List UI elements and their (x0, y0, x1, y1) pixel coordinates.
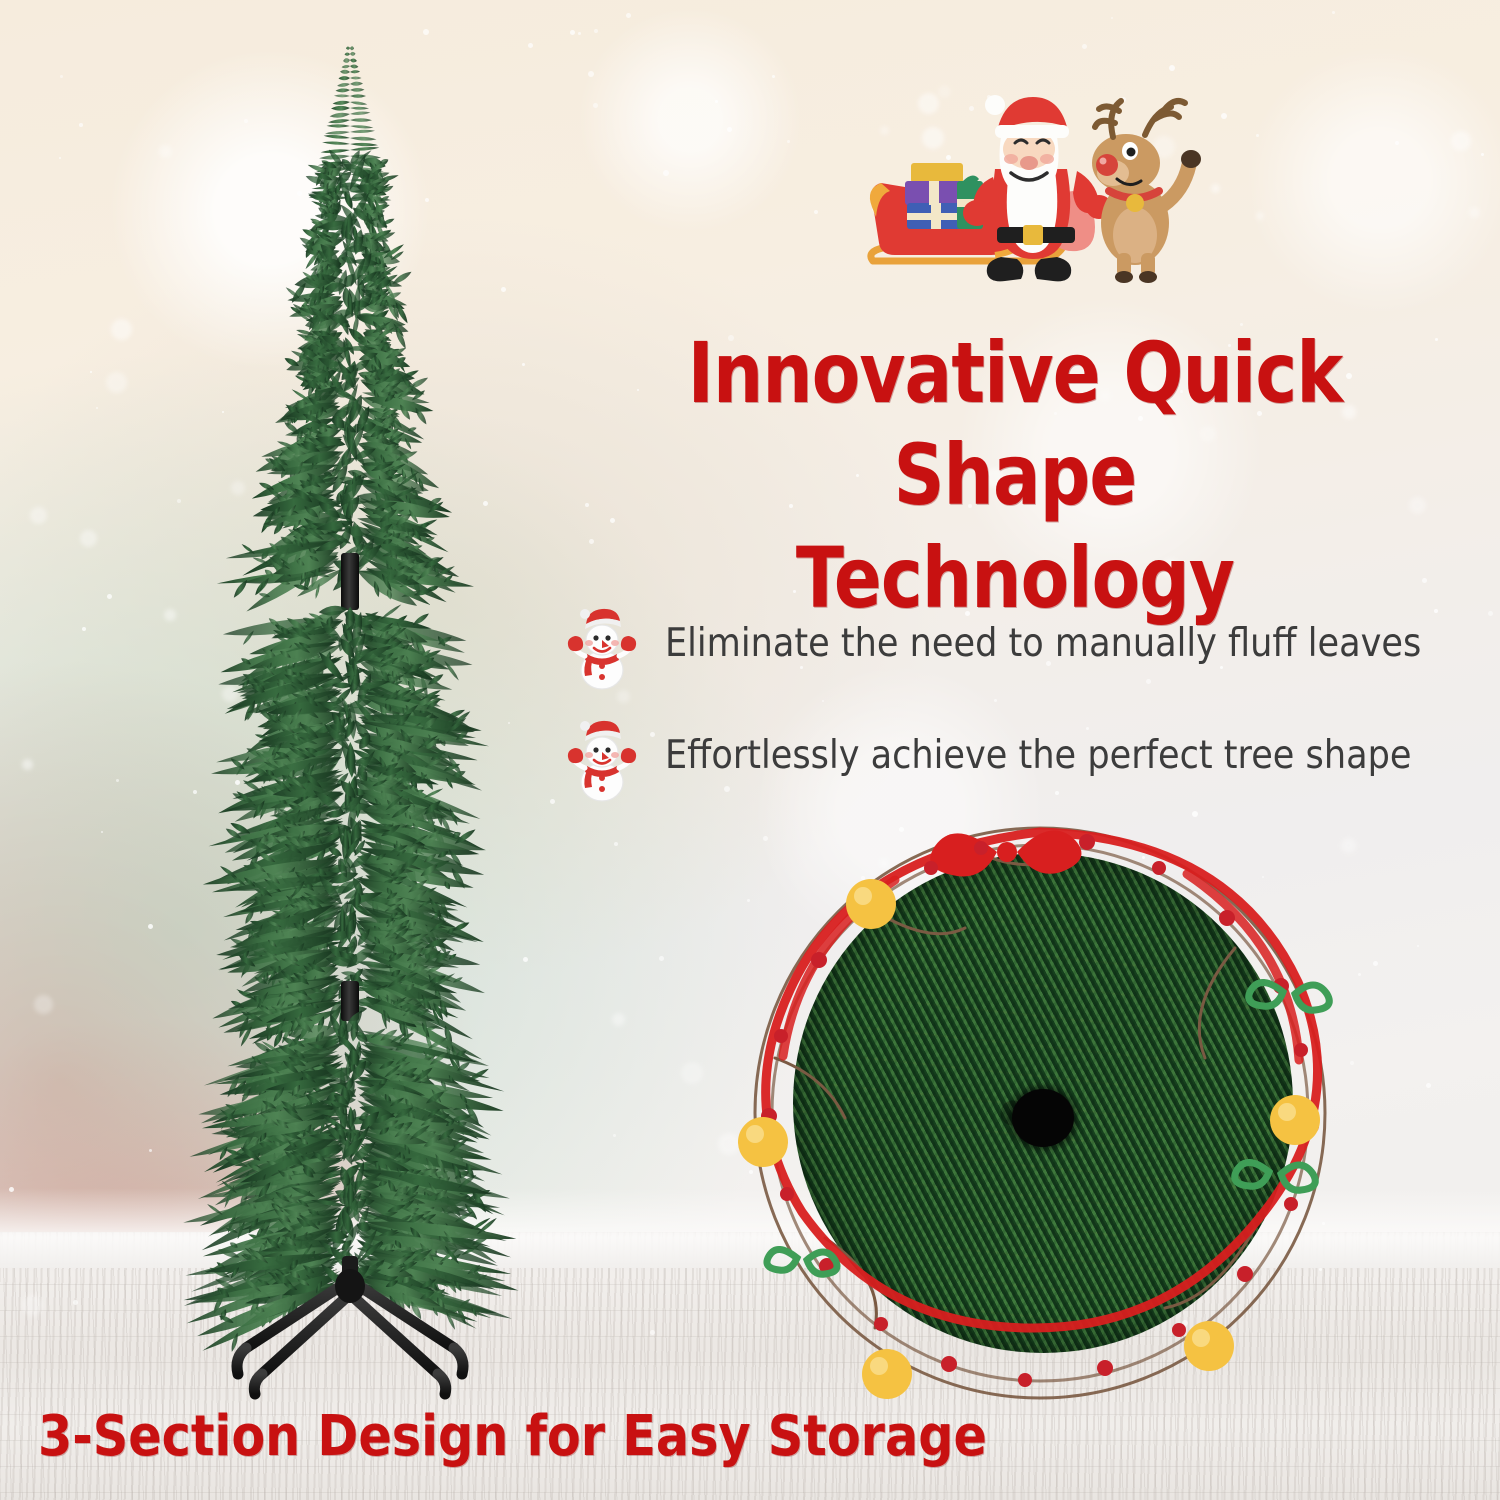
feature-list: Eliminate the need to manually fluff lea… (565, 592, 1470, 808)
feature-text: Effortlessly achieve the perfect tree sh… (665, 735, 1411, 778)
feature-text: Eliminate the need to manually fluff lea… (665, 623, 1421, 666)
headline: Innovative Quick Shape Technology (683, 322, 1347, 629)
list-item: Eliminate the need to manually fluff lea… (565, 592, 1470, 696)
branch-detail-closeup (735, 808, 1345, 1418)
headline-line-1: Innovative Quick (688, 324, 1343, 422)
tree-top-section (217, 46, 474, 611)
snowman-icon (565, 598, 639, 690)
tree-sections (150, 18, 550, 1408)
list-item: Effortlessly achieve the perfect tree sh… (565, 704, 1470, 808)
santa-sleigh-reindeer-icon (845, 85, 1205, 290)
product-infographic: Innovative Quick Shape Technology (0, 0, 1500, 1500)
top-pole-connector (341, 553, 359, 589)
storage-caption: 3-Section Design for Easy Storage (38, 1409, 707, 1465)
tree-middle-section (203, 584, 489, 1069)
tree-illustration (150, 18, 550, 1408)
wreath-ring (735, 808, 1345, 1418)
snowman-icon (565, 710, 639, 802)
